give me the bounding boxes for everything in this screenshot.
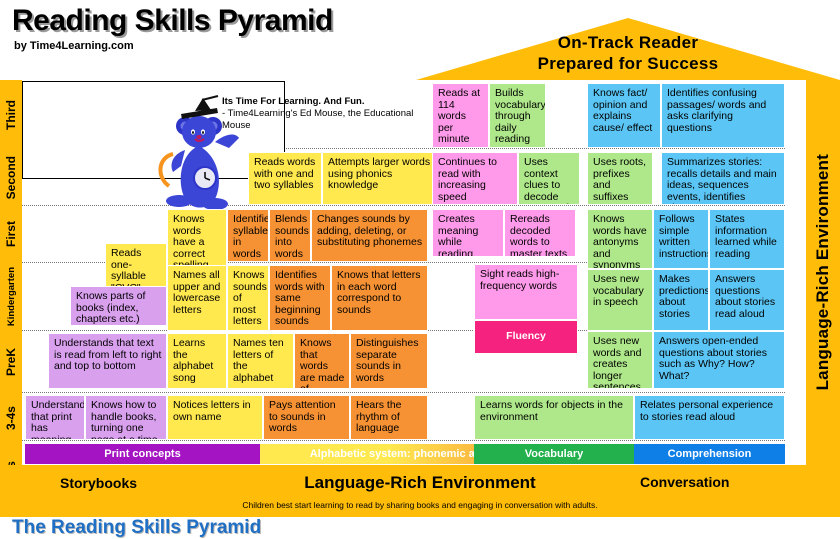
- skill-cell: Hears the rhythm of language: [350, 395, 428, 440]
- grade-label-first: First: [0, 206, 22, 263]
- skill-cell: Builds vocabulary through daily reading: [489, 83, 546, 148]
- skill-cell: States information learned while reading: [709, 209, 785, 269]
- pyramid-infographic: Reading Skills Pyramid by Time4Learning.…: [0, 0, 840, 526]
- skill-cell: Uses context clues to decode new words: [518, 152, 580, 205]
- skill-cell: Changes sounds by adding, deleting, or s…: [311, 209, 428, 262]
- skill-cell: Continues to read with increasing speed: [432, 152, 518, 205]
- grade-label-text: First: [4, 221, 18, 247]
- skill-cell: Learns words for objects in the environm…: [474, 395, 634, 440]
- grade-label-3-4s: 3-4s: [0, 393, 22, 443]
- skill-cell: Identifies confusing passages/ words and…: [661, 83, 785, 148]
- skill-cell: Knows fact/ opinion and explains cause/ …: [587, 83, 661, 148]
- row-separator-4: [22, 392, 785, 393]
- row-separator-5: [22, 440, 785, 441]
- mascot-quote: Its Time For Learning. And Fun. - Time4L…: [222, 96, 437, 132]
- skill-cell: Creates meaning while reading: [432, 209, 504, 257]
- right-rail-label: Language-Rich Environment: [806, 80, 840, 465]
- skill-cell: Distinguishes separate sounds in words: [350, 333, 428, 389]
- mascot-quote-line-2: - Time4Learning's Ed Mouse, the Educatio…: [222, 108, 413, 131]
- skill-cell: Knows that letters in each word correspo…: [331, 265, 428, 331]
- skill-cell: Names ten letters of the alphabet: [227, 333, 294, 389]
- skill-cell: Fluency: [474, 320, 578, 354]
- footer-note: Children best start learning to read by …: [0, 500, 840, 510]
- skill-cell: Attempts larger words using phonics know…: [322, 152, 436, 205]
- grade-label-kindergarten: Kindergarten: [0, 263, 22, 331]
- category-vocabulary: Vocabulary: [474, 444, 634, 464]
- grade-label-text: Third: [4, 100, 18, 130]
- skill-cell: Reads at 114 words per minute: [432, 83, 489, 148]
- skill-cell: Reads words with one and two syllables: [248, 152, 322, 205]
- skill-cell: Knows words have antonyms and synonyms: [587, 209, 653, 269]
- skill-cell: Uses new vocabulary in speech: [587, 269, 653, 331]
- skill-cell: Pays attention to sounds in words: [263, 395, 350, 440]
- skill-cell: Relates personal experience to stories r…: [634, 395, 785, 440]
- right-rail-text: Language-Rich Environment: [813, 154, 833, 390]
- skill-cell: Rereads decoded words to master texts: [504, 209, 576, 257]
- byline: by Time4Learning.com: [14, 40, 134, 52]
- grade-label-second: Second: [0, 149, 22, 206]
- roof-line-2: Prepared for Success: [416, 53, 840, 74]
- skill-cell: Knows parts of books (index, chapters et…: [70, 286, 167, 326]
- skill-cell: Learns the alphabet song: [167, 333, 227, 389]
- skill-cell: Uses new words and creates longer senten…: [587, 331, 653, 389]
- skill-cell: Answers questions about stories read alo…: [709, 269, 785, 331]
- cutoff-heading: The Reading Skills Pyramid: [12, 517, 261, 539]
- skill-cell: Follows simple written instructions: [653, 209, 709, 269]
- row-separator-1: [22, 205, 785, 206]
- page-title: Reading Skills Pyramid: [12, 4, 333, 38]
- skill-cell: Understands that print has meaning: [25, 395, 85, 440]
- roof-label: On-Track Reader Prepared for Success: [416, 32, 840, 74]
- skill-cell: Notices letters in own name: [167, 395, 263, 440]
- skill-cell: Makes predictions about stories: [653, 269, 709, 331]
- category-comprehension: Comprehension: [634, 444, 785, 464]
- skill-cell: Blends sounds into words: [269, 209, 311, 262]
- skill-cell: Names all upper and lowercase letters: [167, 265, 227, 331]
- skill-cell: Summarizes stories: recalls details and …: [661, 152, 785, 205]
- grade-label-text: Second: [4, 156, 18, 199]
- skill-cell: Knows how to handle books, turning one p…: [85, 395, 167, 440]
- grade-label-text: PreK: [4, 348, 18, 376]
- skill-cell: Understands that text is read from left …: [48, 333, 167, 389]
- skill-cell: Knows sounds of most letters: [227, 265, 269, 331]
- grade-label-text: 3-4s: [4, 406, 18, 430]
- skill-cell: Identifies words with same beginning sou…: [269, 265, 331, 331]
- skill-cell: Uses roots, prefixes and suffixes: [587, 152, 653, 205]
- footer-right-label: Conversation: [640, 474, 729, 490]
- ed-mouse-mascot-icon: [155, 92, 250, 212]
- skill-cell: Identifies syllables in words: [227, 209, 269, 262]
- skill-cell: Sight reads high-frequency words: [474, 264, 578, 320]
- skill-cell: Answers open-ended questions about stori…: [653, 331, 785, 389]
- grade-label-text: Kindergarten: [6, 267, 17, 326]
- grade-label-third: Third: [0, 81, 22, 149]
- skill-cell: Knows that words are made of sounds: [294, 333, 350, 389]
- grade-label-prek: PreK: [0, 331, 22, 393]
- category-print: Print concepts: [25, 444, 260, 464]
- roof-line-1: On-Track Reader: [416, 32, 840, 53]
